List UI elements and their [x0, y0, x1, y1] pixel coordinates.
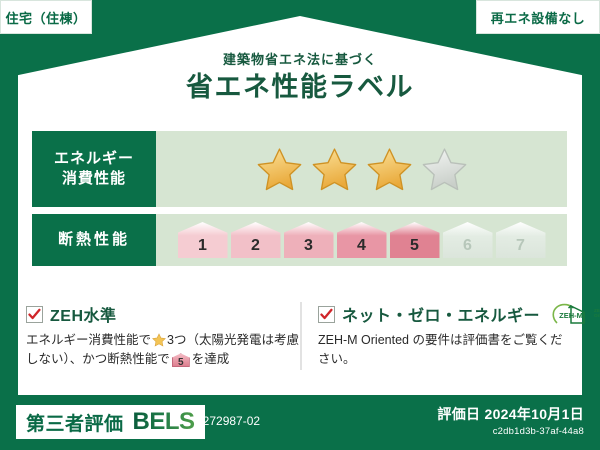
inline-star-icon: [152, 333, 166, 347]
note-zeh-standard: ZEH水準 エネルギー消費性能で3つ（太陽光発電は考慮しない）、かつ断熱性能で5…: [26, 302, 300, 370]
energy-performance-label: 住宅（住棟） 再エネ設備なし 建築物省エネ法に基づく 省エネ性能ラベル エネルギ…: [0, 0, 600, 450]
note-zeh-body-part3: を達成: [192, 352, 230, 366]
evaluation-date: 評価日 2024年10月1日: [437, 404, 584, 424]
star-rating: [256, 146, 468, 193]
row-insulation-content: 1234567: [156, 214, 567, 266]
performance-rows: エネルギー 消費性能 断熱性能 1234567: [32, 131, 567, 273]
check-icon: [28, 308, 41, 321]
zeh-standard-checkbox[interactable]: [26, 306, 43, 323]
insulation-badge-7: 7: [496, 222, 546, 258]
insulation-badge-4: 4: [337, 222, 387, 258]
row-energy-content: [156, 131, 567, 207]
note-nze-title: ネット・ゼロ・エネルギー: [342, 302, 540, 326]
tag-building-type: 住宅（住棟）: [0, 0, 92, 34]
insulation-badge-6: 6: [443, 222, 493, 258]
check-icon: [320, 308, 333, 321]
bels-jp-label: 第三者評価: [26, 409, 124, 436]
footer-eval-info: 評価日 2024年10月1日 c2db1d3b-37af-44a8: [437, 404, 584, 437]
row-insulation-label: 断熱性能: [32, 214, 156, 266]
criteria-notes: ZEH水準 エネルギー消費性能で3つ（太陽光発電は考慮しない）、かつ断熱性能で5…: [26, 302, 574, 370]
star-filled-icon: [366, 146, 413, 193]
bels-en-label: BELS: [133, 408, 195, 436]
note-zeh-head: ZEH水準: [26, 302, 300, 326]
row-energy-consumption: エネルギー 消費性能: [32, 131, 567, 207]
zeh-m-house-icon: ZEH-M: [551, 303, 591, 325]
row-energy-label-line2: 消費性能: [54, 169, 134, 189]
note-nze-body: ZEH-M Oriented の要件は評価書をご覧ください。: [318, 331, 574, 370]
insulation-badge-3: 3: [284, 222, 334, 258]
bels-certificate-number: 0272987-02: [196, 414, 260, 428]
zeh-m-logo-text: ZEH-M: [559, 311, 583, 320]
star-filled-icon: [311, 146, 358, 193]
insulation-badge-1: 1: [178, 222, 228, 258]
evaluation-hash: c2db1d3b-37af-44a8: [437, 426, 584, 437]
tag-building-type-label: 住宅（住棟）: [5, 8, 86, 27]
note-zeh-title: ZEH水準: [50, 302, 117, 326]
row-insulation: 断熱性能 1234567: [32, 214, 567, 266]
insulation-badge-5: 5: [390, 222, 440, 258]
row-energy-label-line1: エネルギー: [54, 149, 134, 169]
note-net-zero-energy: ネット・ゼロ・エネルギー ZEH-M ZEH-M Oriented ZEH-M …: [300, 302, 574, 370]
title-main: 省エネ性能ラベル: [0, 71, 600, 105]
insulation-level-badges: 1234567: [178, 222, 546, 258]
inline-level-badge: 5: [172, 353, 190, 367]
tag-renewable-energy-label: 再エネ設備なし: [491, 8, 586, 27]
star-empty-icon: [421, 146, 468, 193]
insulation-badge-2: 2: [231, 222, 281, 258]
page-title: 建築物省エネ法に基づく 省エネ性能ラベル: [0, 52, 600, 104]
row-insulation-label-text: 断熱性能: [58, 230, 130, 250]
zeh-m-logo: ZEH-M ZEH-M Oriented: [551, 303, 600, 325]
star-filled-icon: [256, 146, 303, 193]
note-nze-head: ネット・ゼロ・エネルギー ZEH-M ZEH-M Oriented: [318, 302, 574, 326]
net-zero-energy-checkbox[interactable]: [318, 306, 335, 323]
note-zeh-body-part1: エネルギー消費性能で: [26, 333, 151, 347]
title-subtitle: 建築物省エネ法に基づく: [0, 52, 600, 68]
footer-bar: 第三者評価 BELS 0272987-02 評価日 2024年10月1日 c2d…: [0, 397, 600, 450]
note-zeh-body: エネルギー消費性能で3つ（太陽光発電は考慮しない）、かつ断熱性能で5を達成: [26, 331, 300, 370]
row-energy-label: エネルギー 消費性能: [32, 131, 156, 207]
zeh-m-logo-sub2: Oriented: [594, 314, 600, 319]
bels-logo-box: 第三者評価 BELS: [16, 405, 205, 439]
tag-renewable-energy: 再エネ設備なし: [476, 0, 600, 34]
